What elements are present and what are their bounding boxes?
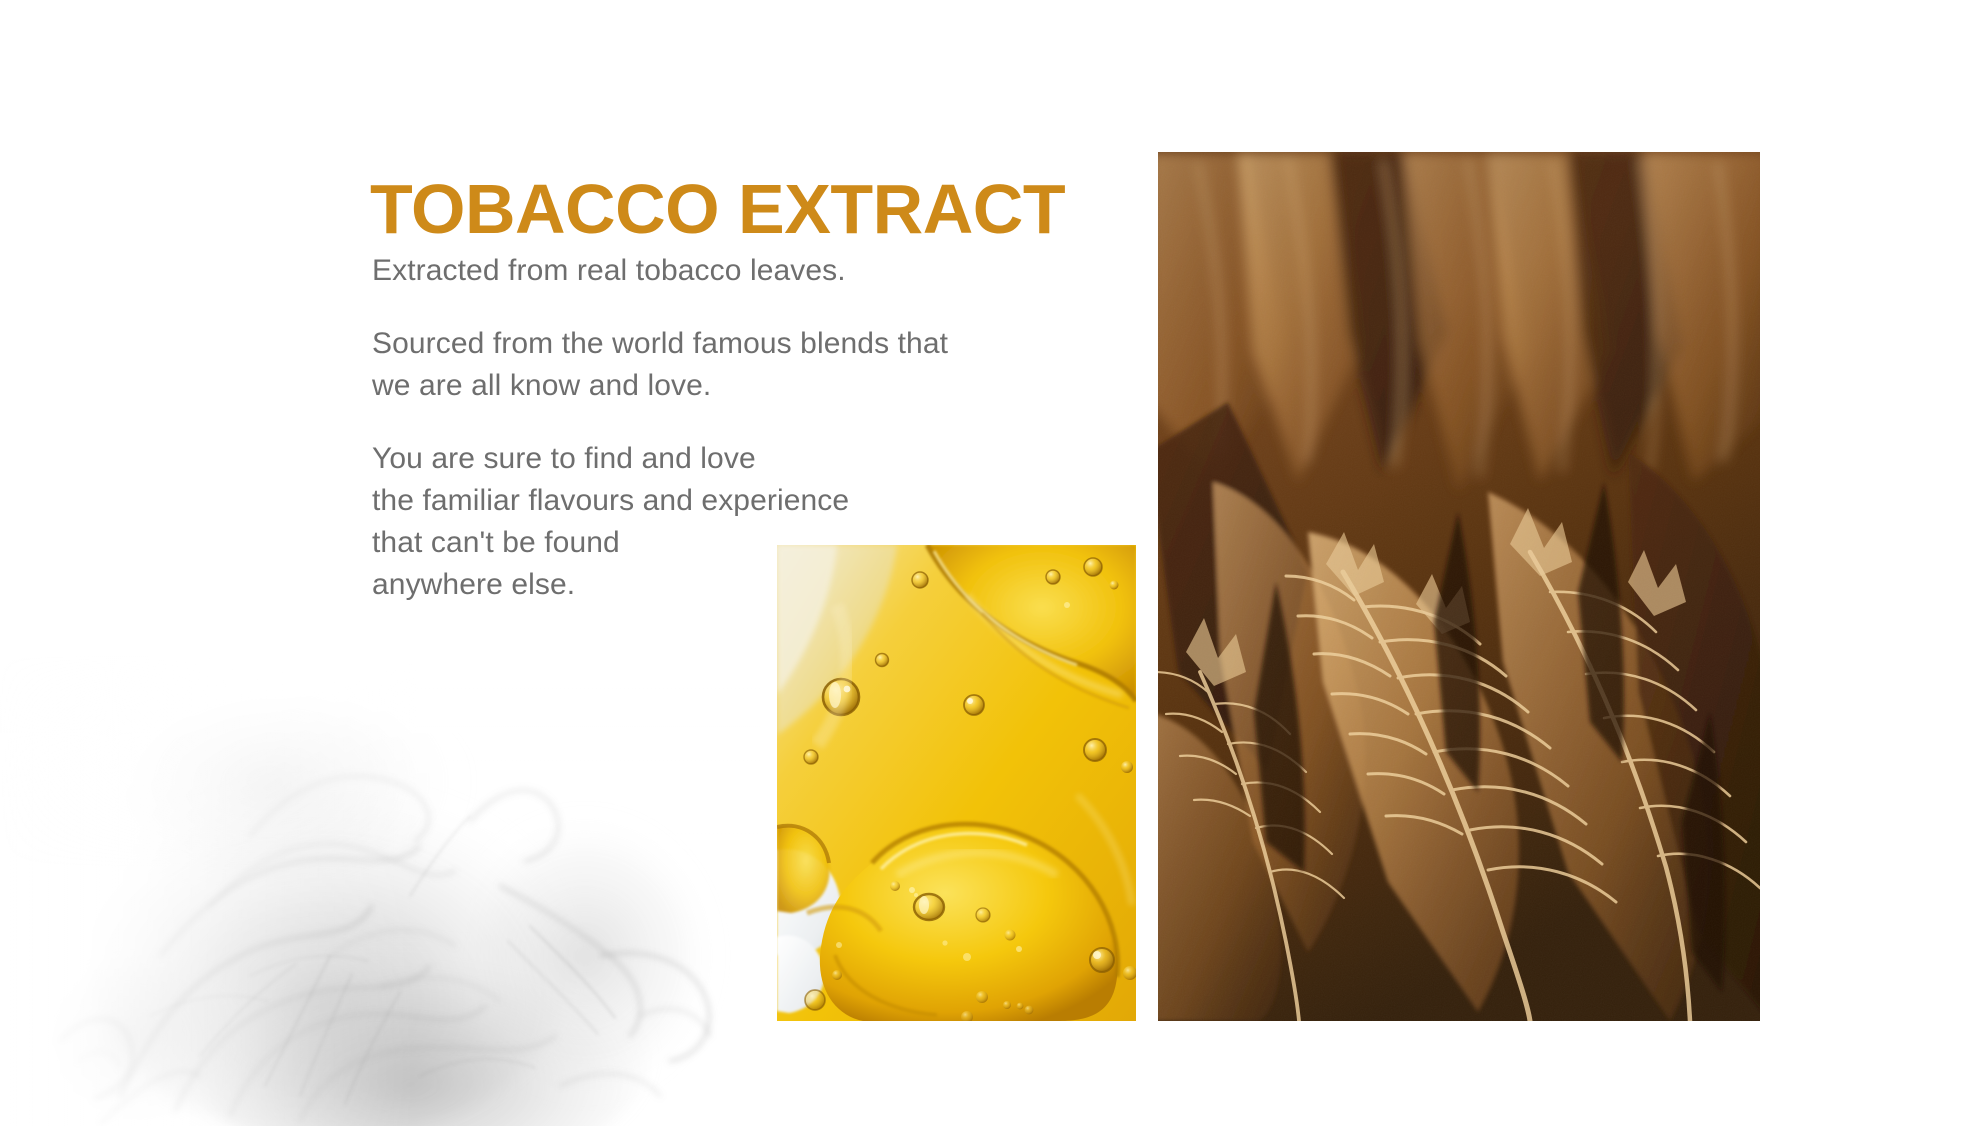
slide-canvas: TOBACCO EXTRACT Extracted from real toba… xyxy=(0,0,1980,1126)
smoke-wisp-decoration xyxy=(0,656,760,1126)
dried-tobacco-leaves-photo xyxy=(1158,152,1760,1021)
body-paragraph-1: Extracted from real tobacco leaves. xyxy=(372,250,1052,292)
golden-oil-bubbles-photo xyxy=(777,545,1136,1021)
body-paragraph-2: Sourced from the world famous blends tha… xyxy=(372,323,1052,407)
page-title: TOBACCO EXTRACT xyxy=(370,173,1065,247)
